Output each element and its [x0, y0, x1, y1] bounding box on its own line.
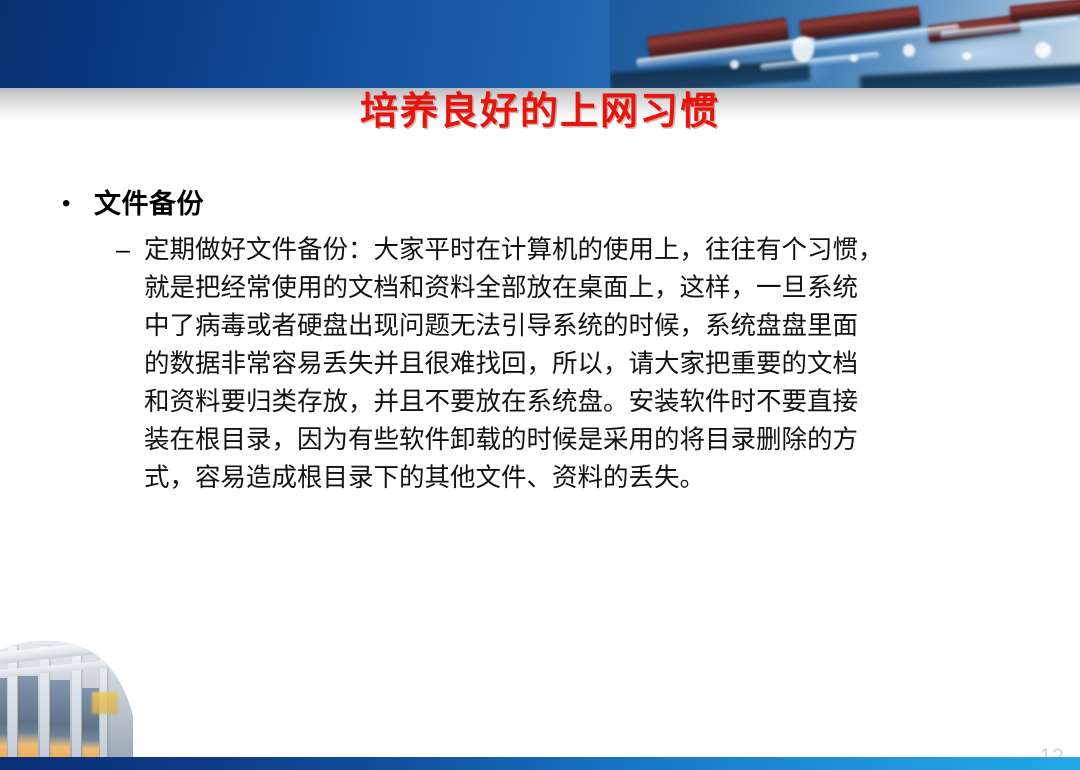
slide-body: • 文件备份 – 定期做好文件备份：大家平时在计算机的使用上，往往有个习惯， 就… [0, 185, 1080, 497]
building-column [40, 646, 49, 760]
bullet-level2-paragraph: 定期做好文件备份：大家平时在计算机的使用上，往往有个习惯， 就是把经常使用的文档… [144, 231, 1034, 497]
slide-footer-bar [0, 757, 1080, 770]
paragraph-line: 式，容易造成根目录下的其他文件、资料的丢失。 [144, 459, 1034, 497]
bullet-item-level2: – 定期做好文件备份：大家平时在计算机的使用上，往往有个习惯， 就是把经常使用的… [0, 223, 1080, 497]
paragraph-line: 的数据非常容易丢失并且很难找回，所以，请大家把重要的文档 [144, 345, 1034, 383]
slide-header-band [0, 0, 1080, 88]
circuit-highlight [850, 55, 858, 62]
paragraph-line: 装在根目录，因为有些软件卸载的时候是采用的将目录删除的方 [144, 421, 1034, 459]
bullet-item-level1: • 文件备份 [0, 185, 1080, 223]
paragraph-line: 中了病毒或者硬盘出现问题无法引导系统的时候，系统盘盘里面 [144, 307, 1034, 345]
circuit-highlight [1035, 42, 1051, 58]
building-column [8, 646, 17, 760]
building-window-light [18, 732, 38, 760]
bullet-dot-icon: • [62, 185, 94, 223]
circuit-trace [760, 52, 880, 72]
circuit-highlight [730, 60, 739, 69]
bullet-dash-icon: – [116, 231, 144, 269]
classical-building-photo [0, 636, 136, 760]
circuit-board-photo [610, 0, 1080, 88]
bullet-level1-label: 文件备份 [94, 185, 204, 223]
building-cornice [0, 638, 136, 664]
paragraph-line: 就是把经常使用的文档和资料全部放在桌面上，这样，一旦系统 [144, 269, 1034, 307]
page-title: 培养良好的上网习惯 [0, 80, 1080, 135]
presentation-slide: 培养良好的上网习惯 • 文件备份 – 定期做好文件备份：大家平时在计算机的使用上… [0, 0, 1080, 770]
circuit-highlight [962, 52, 972, 60]
paragraph-line: 和资料要归类存放，并且不要放在系统盘。安装软件时不要直接 [144, 383, 1034, 421]
building-warm-accent [92, 692, 118, 714]
circuit-highlight [792, 36, 814, 62]
paragraph-line: 定期做好文件备份：大家平时在计算机的使用上，往往有个习惯， [144, 231, 1034, 269]
circuit-highlight [903, 44, 915, 57]
